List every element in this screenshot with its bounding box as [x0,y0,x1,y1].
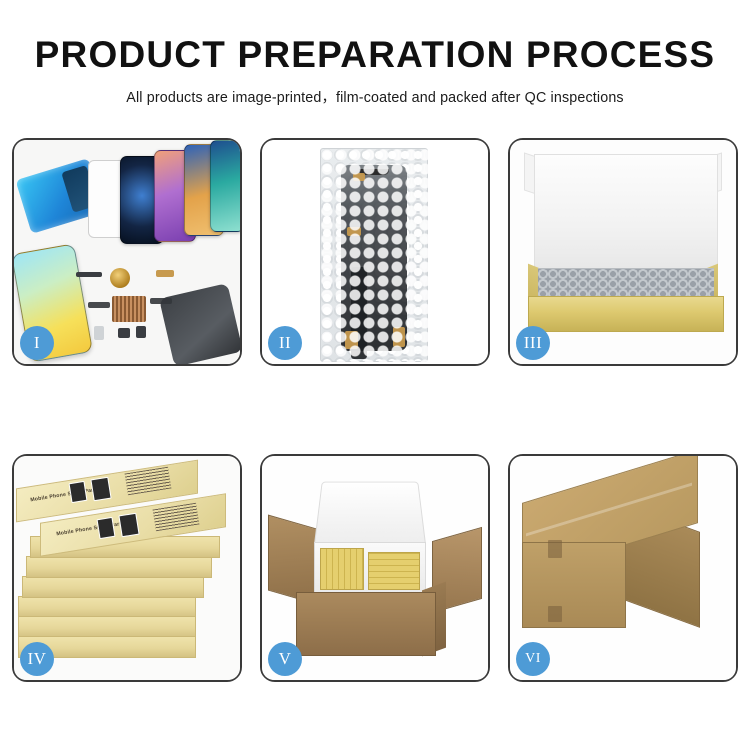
small-part-icon-1 [76,272,102,277]
stacked-box-icon-3 [26,556,212,578]
step-panel-2: II [260,138,490,366]
page-title: PRODUCT PREPARATION PROCESS [0,36,750,75]
box-thumbnail-icon-1 [69,481,88,503]
step-panel-1: I [12,138,242,366]
foam-lid-icon [314,482,427,548]
box-front-panel-icon [528,296,724,332]
packed-box-row-icon-2 [368,552,420,590]
gold-tape-icon-3 [345,331,358,349]
step-panel-3: III [508,138,738,366]
carton-tape-icon-2 [548,606,562,622]
carton-front-icon [296,592,436,656]
small-part-icon-3 [94,326,104,340]
gold-tape-icon-2 [347,227,361,236]
gold-tape-icon-4 [393,327,405,347]
step-badge-5: V [268,642,302,676]
box-thumbnail-icon-2 [90,477,111,502]
gold-tape-icon-1 [353,173,365,181]
step-badge-4: IV [20,642,54,676]
step-badge-2: II [268,326,302,360]
small-part-icon-4 [118,328,130,338]
product-preparation-infographic: PRODUCT PREPARATION PROCESS All products… [0,0,750,750]
header: PRODUCT PREPARATION PROCESS All products… [0,0,750,107]
box-thumbnail-icon-3 [97,517,116,539]
box-thumbnail-icon-4 [118,513,139,538]
step-badge-1: I [20,326,54,360]
bubble-wrapped-contents-icon [538,268,714,298]
stacked-box-icon-4 [22,576,204,598]
page-subtitle: All products are image-printed，film-coat… [0,86,750,107]
step-panel-6: VI [508,454,738,682]
step-panel-5: V [260,454,490,682]
speaker-coil-icon [110,268,130,288]
carton-tape-icon-1 [548,540,562,558]
packed-boxes-group [320,548,420,592]
step-badge-6: VI [516,642,550,676]
flex-cable-icon-2 [150,298,172,304]
stacked-box-icon-6 [18,616,196,638]
small-part-icon-2 [156,270,174,277]
small-part-icon-5 [136,326,146,338]
step-badge-3: III [516,326,550,360]
step-panel-4: Mobile Phone Spare Parts Mobile Phone Sp… [12,454,242,682]
box-lid-icon [534,154,718,274]
logic-board-icon [112,296,146,322]
sealed-carton-front-icon [522,542,626,628]
process-steps-grid: I II [12,138,738,682]
phone-screen-icon-d [210,140,240,232]
packed-box-row-icon-1 [320,548,364,590]
stacked-box-icon-5 [18,596,196,618]
phone-backplate-icon [159,283,240,364]
bubble-wrap-bag-icon [320,148,428,362]
flex-cable-icon-1 [88,302,110,308]
